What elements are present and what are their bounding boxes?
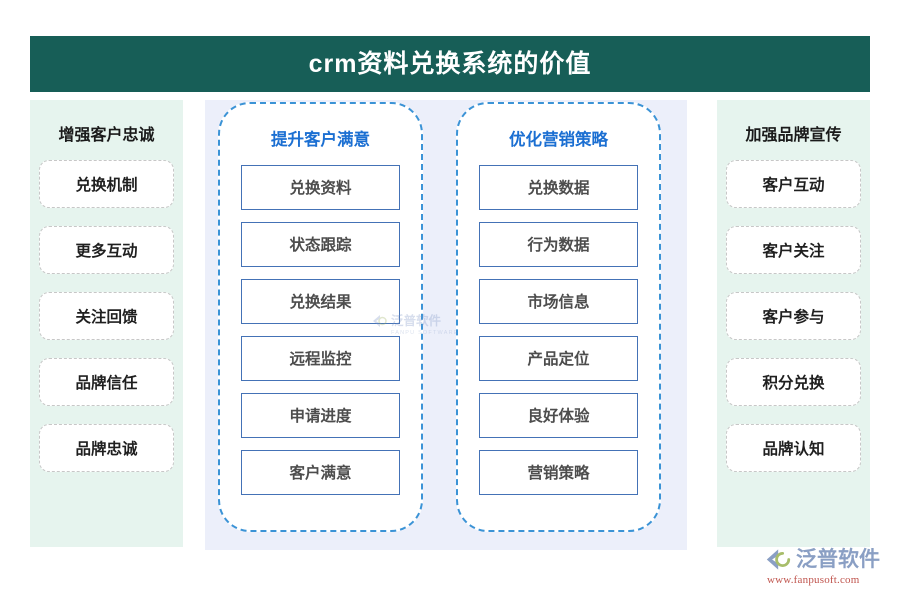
- column-improve-customer-satisfaction: 提升客户满意 兑换资料 状态跟踪 兑换结果 远程监控 申请进度 客户满意: [218, 102, 423, 532]
- list-item[interactable]: 客户互动: [726, 160, 861, 208]
- column-heading-improve-customer-satisfaction: 提升客户满意: [220, 132, 421, 149]
- list-item[interactable]: 市场信息: [479, 279, 638, 324]
- brand-logo-name: 泛普软件: [796, 549, 880, 570]
- list-item[interactable]: 申请进度: [241, 393, 400, 438]
- list-item[interactable]: 兑换机制: [39, 160, 174, 208]
- fanpu-logo-icon: [766, 548, 792, 571]
- column-heading-strengthen-brand-promotion: 加强品牌宣传: [717, 128, 870, 144]
- list-item[interactable]: 良好体验: [479, 393, 638, 438]
- diagram-title-bar: crm资料兑换系统的价值: [30, 36, 870, 92]
- list-item[interactable]: 客户满意: [241, 450, 400, 495]
- list-item[interactable]: 营销策略: [479, 450, 638, 495]
- list-item[interactable]: 兑换数据: [479, 165, 638, 210]
- column-heading-optimize-marketing-strategy: 优化营销策略: [458, 132, 659, 149]
- brand-logo-url: www.fanpusoft.com: [767, 574, 860, 586]
- brand-logo: 泛普软件 www.fanpusoft.com: [766, 548, 880, 586]
- column-item-list-enhance-customer-loyalty: 兑换机制 更多互动 关注回馈 品牌信任 品牌忠诚: [30, 160, 183, 472]
- brand-logo-row: 泛普软件: [766, 548, 880, 571]
- column-heading-enhance-customer-loyalty: 增强客户忠诚: [30, 128, 183, 144]
- column-optimize-marketing-strategy: 优化营销策略 兑换数据 行为数据 市场信息 产品定位 良好体验 营销策略: [456, 102, 661, 532]
- list-item[interactable]: 品牌忠诚: [39, 424, 174, 472]
- list-item[interactable]: 状态跟踪: [241, 222, 400, 267]
- list-item[interactable]: 兑换结果: [241, 279, 400, 324]
- list-item[interactable]: 产品定位: [479, 336, 638, 381]
- list-item[interactable]: 客户关注: [726, 226, 861, 274]
- column-item-list-improve-customer-satisfaction: 兑换资料 状态跟踪 兑换结果 远程监控 申请进度 客户满意: [220, 165, 421, 495]
- page-title: crm资料兑换系统的价值: [309, 52, 592, 77]
- list-item[interactable]: 关注回馈: [39, 292, 174, 340]
- list-item[interactable]: 品牌信任: [39, 358, 174, 406]
- list-item[interactable]: 兑换资料: [241, 165, 400, 210]
- list-item[interactable]: 品牌认知: [726, 424, 861, 472]
- list-item[interactable]: 更多互动: [39, 226, 174, 274]
- list-item[interactable]: 客户参与: [726, 292, 861, 340]
- column-item-list-optimize-marketing-strategy: 兑换数据 行为数据 市场信息 产品定位 良好体验 营销策略: [458, 165, 659, 495]
- list-item[interactable]: 远程监控: [241, 336, 400, 381]
- diagram-canvas: crm资料兑换系统的价值 增强客户忠诚 兑换机制 更多互动 关注回馈 品牌信任 …: [0, 0, 900, 600]
- column-item-list-strengthen-brand-promotion: 客户互动 客户关注 客户参与 积分兑换 品牌认知: [717, 160, 870, 472]
- column-enhance-customer-loyalty: 增强客户忠诚 兑换机制 更多互动 关注回馈 品牌信任 品牌忠诚: [30, 100, 183, 547]
- column-strengthen-brand-promotion: 加强品牌宣传 客户互动 客户关注 客户参与 积分兑换 品牌认知: [717, 100, 870, 547]
- list-item[interactable]: 积分兑换: [726, 358, 861, 406]
- list-item[interactable]: 行为数据: [479, 222, 638, 267]
